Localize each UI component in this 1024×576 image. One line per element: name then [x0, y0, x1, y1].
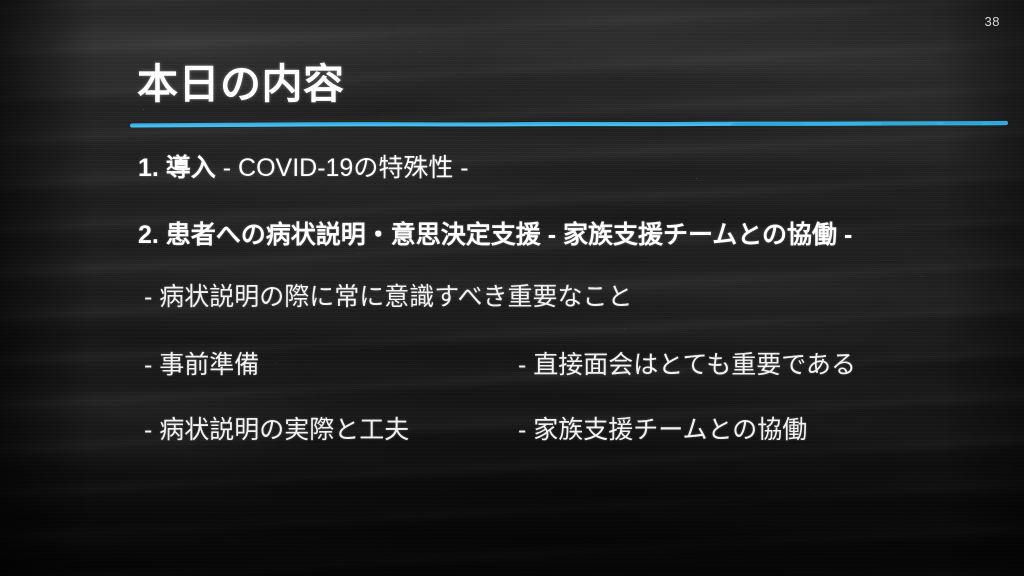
outline-item-1-tail: - COVID-19の特殊性 -	[216, 154, 469, 182]
outline-subitem-practice-and-technique: - 病状説明の実際と工夫	[144, 410, 409, 446]
outline-row-2: 2. 患者への病状説明・意思決定支援 - 家族支援チームとの協働 -	[0, 215, 1024, 255]
page-number: 38	[985, 14, 1000, 29]
slide-content: 38 本日の内容 1. 導入 - COVID-19の特殊性 - 2. 患者への病…	[0, 0, 1024, 576]
outline-subitem-awareness: - 病状説明の際に常に意識すべき重要なこと	[144, 277, 633, 313]
outline-subitem-preparation: - 事前準備	[144, 345, 259, 381]
outline-subitem-family-support-team: - 家族支援チームとの協働	[518, 410, 807, 446]
outline-row-1: 1. 導入 - COVID-19の特殊性 -	[0, 148, 1024, 188]
presentation-slide: 38 本日の内容 1. 導入 - COVID-19の特殊性 - 2. 患者への病…	[0, 0, 1024, 576]
page-title: 本日の内容	[137, 50, 345, 110]
outline-row-5: - 病状説明の実際と工夫 - 家族支援チームとの協働	[0, 410, 1024, 450]
outline-row-3: - 病状説明の際に常に意識すべき重要なこと	[0, 277, 1024, 317]
outline-item-1-number: 1. 導入	[138, 154, 216, 182]
title-underline-rule	[130, 117, 1008, 133]
outline-item-2: 2. 患者への病状説明・意思決定支援 - 家族支援チームとの協働 -	[138, 215, 852, 251]
outline-subitem-in-person-visit: - 直接面会はとても重要である	[518, 345, 856, 381]
outline-row-4: - 事前準備 - 直接面会はとても重要である	[0, 345, 1024, 385]
chalk-line-icon	[130, 117, 1008, 133]
outline-item-1: 1. 導入 - COVID-19の特殊性 -	[138, 148, 469, 184]
